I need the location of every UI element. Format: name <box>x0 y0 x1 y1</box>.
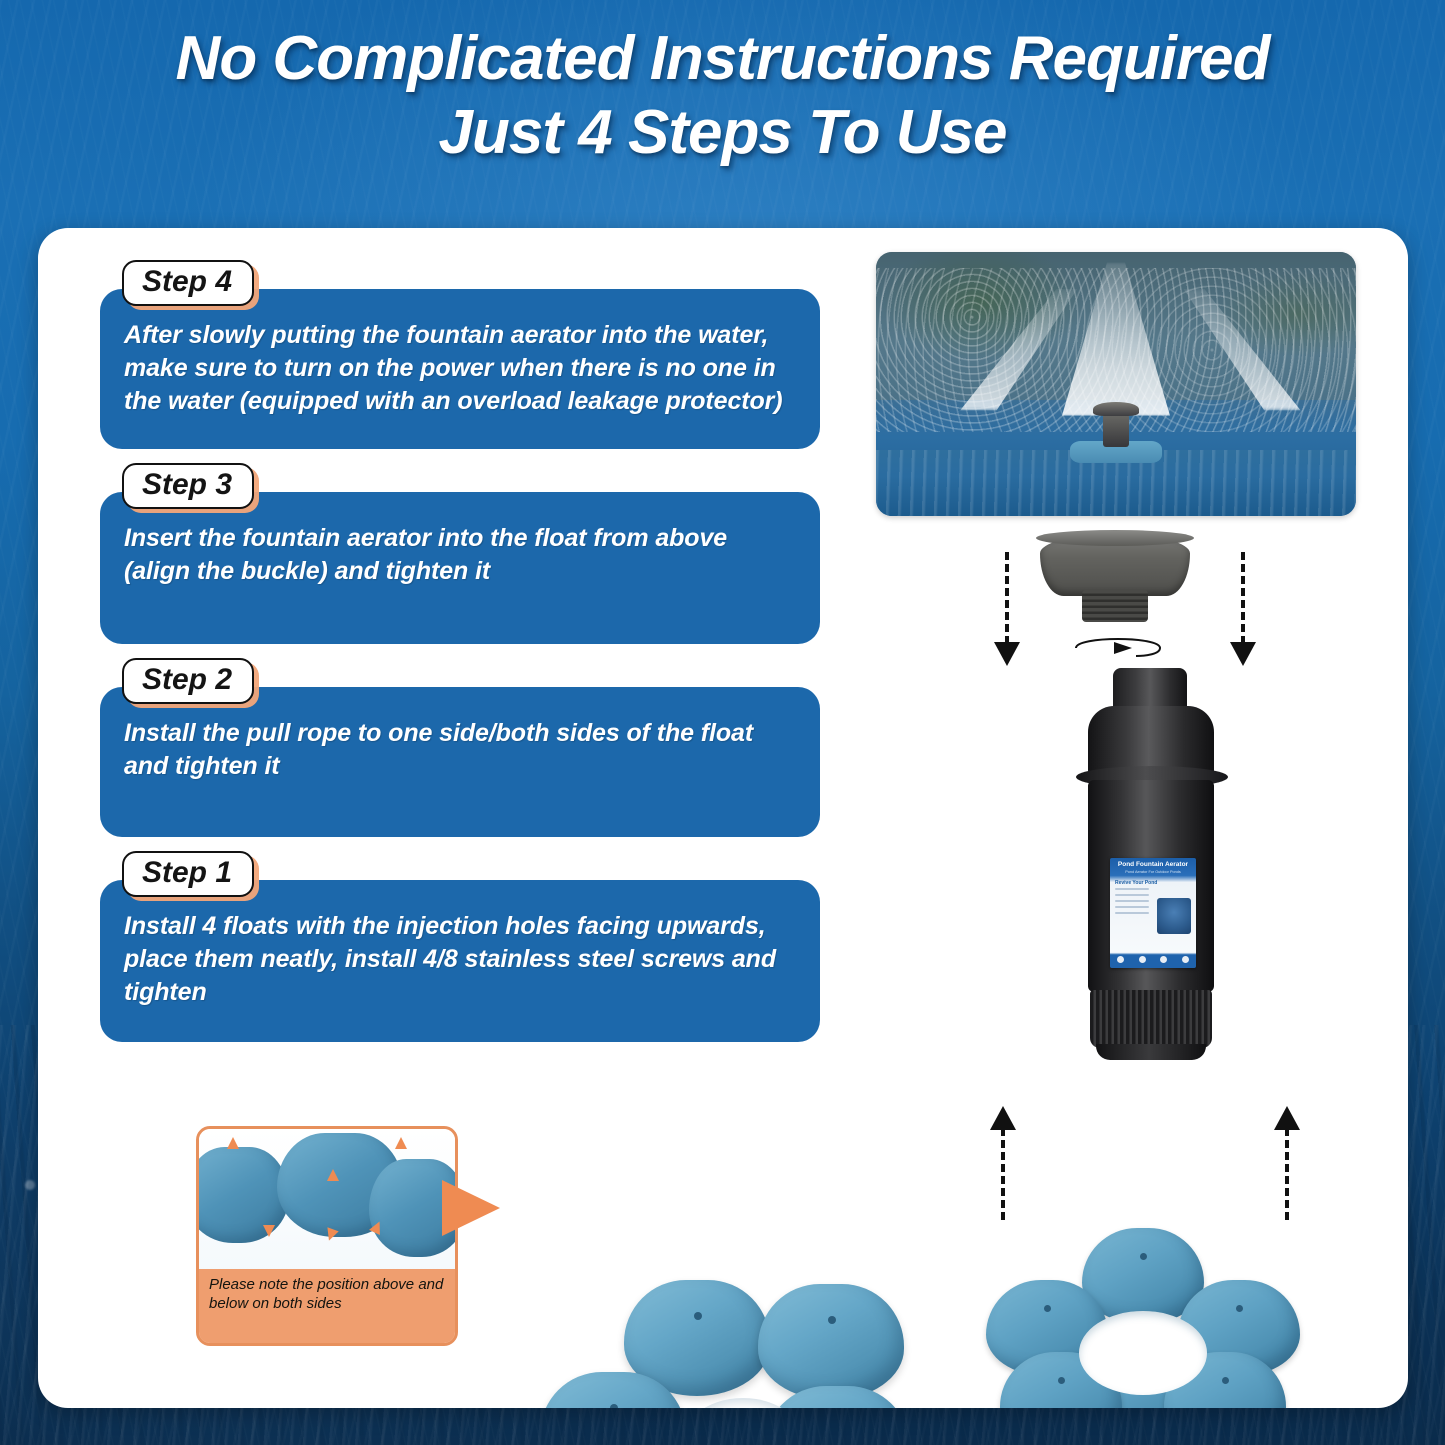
headline-line-2: Just 4 Steps To Use <box>0 96 1445 170</box>
photo-nozzle-cap <box>1093 402 1139 416</box>
step-text-1: Install 4 floats with the injection hole… <box>100 880 820 1042</box>
page-title: No Complicated Instructions Required Jus… <box>0 22 1445 170</box>
nozzle-rim <box>1036 530 1194 546</box>
pump-intake-grill <box>1090 990 1212 1048</box>
position-arrow-icon <box>327 1169 339 1181</box>
feature-icon-4 <box>1182 956 1189 963</box>
nozzle-threaded-collar <box>1082 590 1148 622</box>
feature-icon-2 <box>1139 956 1146 963</box>
flower-shaped-float-ring <box>978 1228 1308 1408</box>
float-detail-inset: Please note the position above and below… <box>196 1126 458 1346</box>
product-label: Pond Fountain Aerator Pond Aerator For O… <box>1110 858 1196 968</box>
position-arrow-icon <box>263 1225 275 1237</box>
insert-arrow-down-left-icon <box>1000 552 1014 644</box>
step-item-1: Step 1 Install 4 floats with the injecti… <box>100 851 820 1042</box>
step-badge-2: Step 2 <box>122 658 254 704</box>
product-label-heading: Revive Your Pond <box>1110 875 1196 888</box>
content-card: Step 4 After slowly putting the fountain… <box>38 228 1408 1408</box>
water-sparkle <box>25 1180 35 1190</box>
float-petal <box>758 1284 904 1400</box>
product-label-feature-icons <box>1110 952 1196 966</box>
position-arrow-icon <box>227 1137 239 1149</box>
feature-icon-3 <box>1160 956 1167 963</box>
position-arrow-icon <box>323 1227 338 1242</box>
headline-line-1: No Complicated Instructions Required <box>176 24 1270 93</box>
position-arrow-icon <box>395 1137 407 1149</box>
step-badge-4: Step 4 <box>122 260 254 306</box>
float-exploded-diagram <box>536 1280 916 1408</box>
step-badge-3: Step 3 <box>122 463 254 509</box>
note-text: Please note the position above and below… <box>199 1269 455 1343</box>
feature-icon-1 <box>1117 956 1124 963</box>
step-item-3: Step 3 Insert the fountain aerator into … <box>100 463 820 644</box>
lift-arrow-up-right-icon <box>1280 1128 1294 1220</box>
float-detail-image <box>199 1129 455 1277</box>
lift-arrow-up-left-icon <box>996 1128 1010 1220</box>
aerator-pump-body: Pond Fountain Aerator Pond Aerator For O… <box>1058 668 1248 1088</box>
step-badge-1: Step 1 <box>122 851 254 897</box>
step-text-4: After slowly putting the fountain aerato… <box>100 289 820 449</box>
step-text-3: Insert the fountain aerator into the flo… <box>100 492 820 644</box>
step-text-2: Install the pull rope to one side/both s… <box>100 687 820 837</box>
pump-base <box>1096 1044 1206 1060</box>
step-item-2: Step 2 Install the pull rope to one side… <box>100 658 820 837</box>
product-label-title: Pond Fountain Aerator <box>1110 858 1196 869</box>
float-piece <box>199 1147 289 1243</box>
photo-pump-stem <box>1103 413 1129 447</box>
insert-arrow-down-right-icon <box>1236 552 1250 644</box>
step-item-4: Step 4 After slowly putting the fountain… <box>100 260 820 449</box>
steps-list: Step 4 After slowly putting the fountain… <box>100 260 820 1056</box>
float-center-hole <box>1079 1311 1207 1395</box>
callout-pointer-icon <box>442 1180 500 1236</box>
rotation-arrow-icon <box>1070 632 1166 658</box>
fountain-photo <box>876 252 1356 516</box>
product-label-photo <box>1157 898 1191 934</box>
